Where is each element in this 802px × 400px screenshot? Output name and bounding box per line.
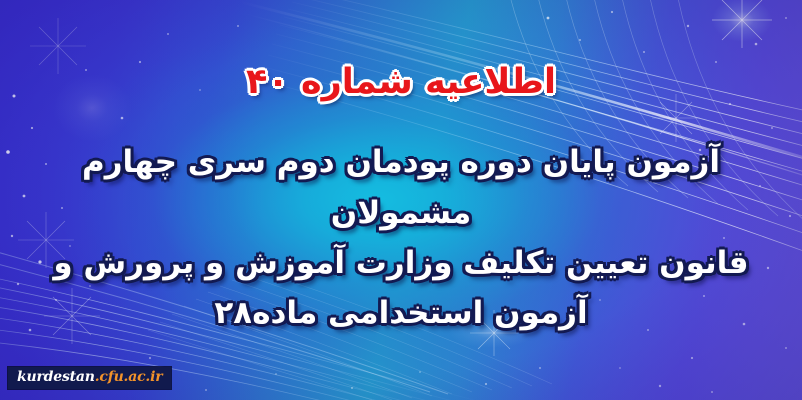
background-vignette [0, 0, 802, 400]
starburst-right-mid [652, 94, 700, 142]
banner-body-line-2: قانون تعیین تکلیف وزارت آموزش و پرورش و [45, 238, 757, 288]
banner-body-line-3: آزمون استخدامی ماده۲۸ [45, 288, 757, 338]
announcement-banner: اطلاعیه شماره ۴۰ آزمون پایان دوره پودمان… [0, 0, 802, 400]
banner-body-line-1: آزمون پایان دوره پودمان دوم سری چهارم مش… [45, 137, 757, 237]
glow-bottom-center [448, 316, 536, 348]
background-right-purple-wash [0, 0, 802, 400]
background-cyan-bloom [0, 0, 802, 400]
watermark-site-name: kurdestan [17, 369, 95, 385]
banner-content: اطلاعیه شماره ۴۰ آزمون پایان دوره پودمان… [0, 0, 802, 400]
site-watermark: kurdestan.cfu.ac.ir [8, 367, 171, 389]
background-base-gradient [0, 0, 802, 400]
starburst-mid-left [18, 212, 74, 268]
glow-left [52, 74, 132, 142]
flowing-lines-decoration [0, 0, 802, 400]
swoosh-highlight-top [240, 2, 802, 160]
background-cyan-glow [0, 0, 802, 400]
starburst-center-bottom [470, 310, 518, 356]
watermark-site-domain: .cfu.ac.ir [95, 369, 163, 385]
glow-top-right [712, 0, 772, 42]
star-field [6, 11, 791, 393]
starburst-lower-left [44, 288, 100, 344]
banner-body: آزمون پایان دوره پودمان دوم سری چهارم مش… [45, 137, 757, 338]
background-left-indigo-wash [0, 0, 802, 400]
starburst-top-right [712, 0, 772, 48]
banner-title: اطلاعیه شماره ۴۰ [246, 62, 556, 103]
starburst-upper-left [30, 18, 86, 74]
